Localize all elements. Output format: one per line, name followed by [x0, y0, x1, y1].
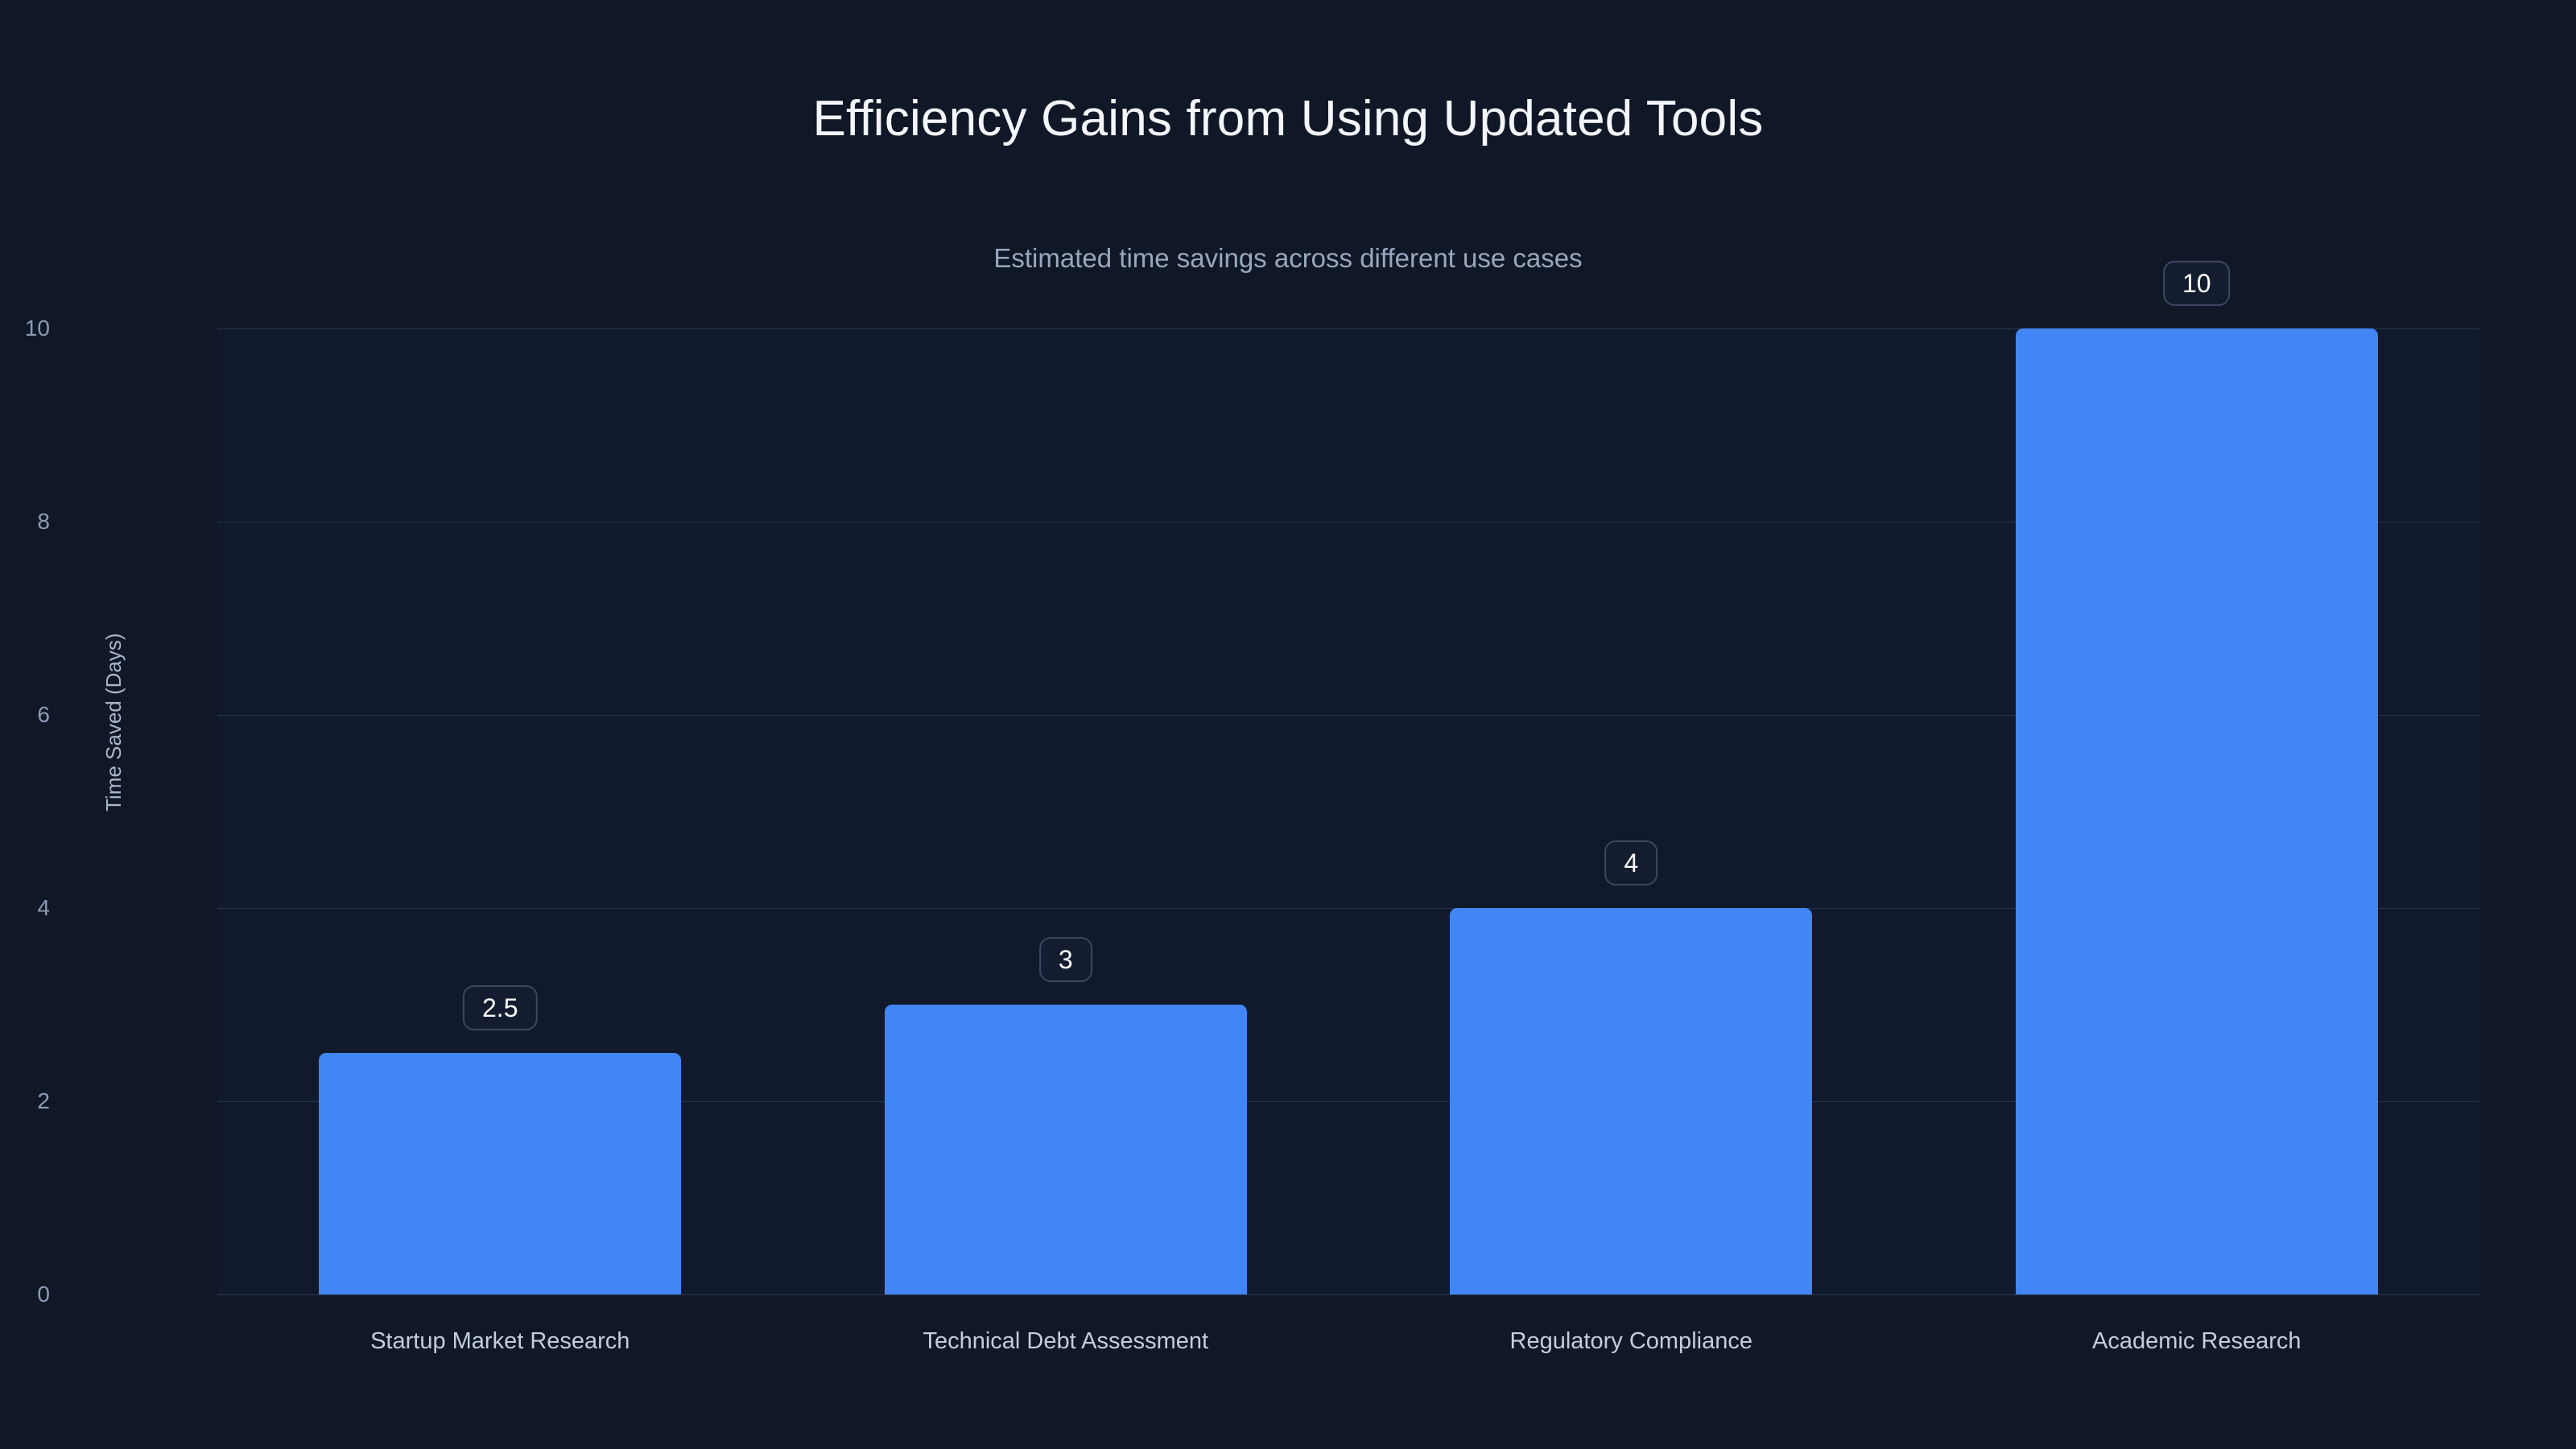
chart-title: Efficiency Gains from Using Updated Tool…: [0, 90, 2576, 147]
y-axis-label: Time Saved (Days): [101, 633, 126, 811]
bar-group[interactable]: 3: [885, 328, 1247, 1294]
bar-value-label: 4: [1604, 840, 1657, 885]
gridline: [217, 1294, 2479, 1295]
bar-group[interactable]: 4: [1450, 328, 1812, 1294]
bar[interactable]: [2016, 328, 2378, 1294]
x-tick-label: Technical Debt Assessment: [923, 1328, 1208, 1355]
bar-value-label: 3: [1039, 937, 1092, 982]
bar-chart: Efficiency Gains from Using Updated Tool…: [0, 0, 2576, 1449]
y-tick-label: 0: [0, 1282, 50, 1307]
bar-value-label: 2.5: [463, 985, 537, 1030]
bar[interactable]: [885, 1005, 1247, 1294]
y-tick-label: 4: [0, 895, 50, 921]
bar-value-label: 10: [2163, 261, 2231, 306]
bar[interactable]: [319, 1053, 681, 1294]
y-tick-label: 8: [0, 509, 50, 535]
bar-group[interactable]: 2.5: [319, 328, 681, 1294]
x-tick-label: Startup Market Research: [370, 1328, 630, 1355]
bar[interactable]: [1450, 908, 1812, 1294]
x-tick-label: Academic Research: [2092, 1328, 2301, 1355]
y-tick-label: 6: [0, 702, 50, 728]
x-tick-label: Regulatory Compliance: [1510, 1328, 1752, 1355]
bars-layer: 2.53410: [217, 328, 2479, 1294]
bar-group[interactable]: 10: [2016, 328, 2378, 1294]
y-tick-label: 2: [0, 1088, 50, 1114]
y-tick-label: 10: [0, 316, 50, 341]
